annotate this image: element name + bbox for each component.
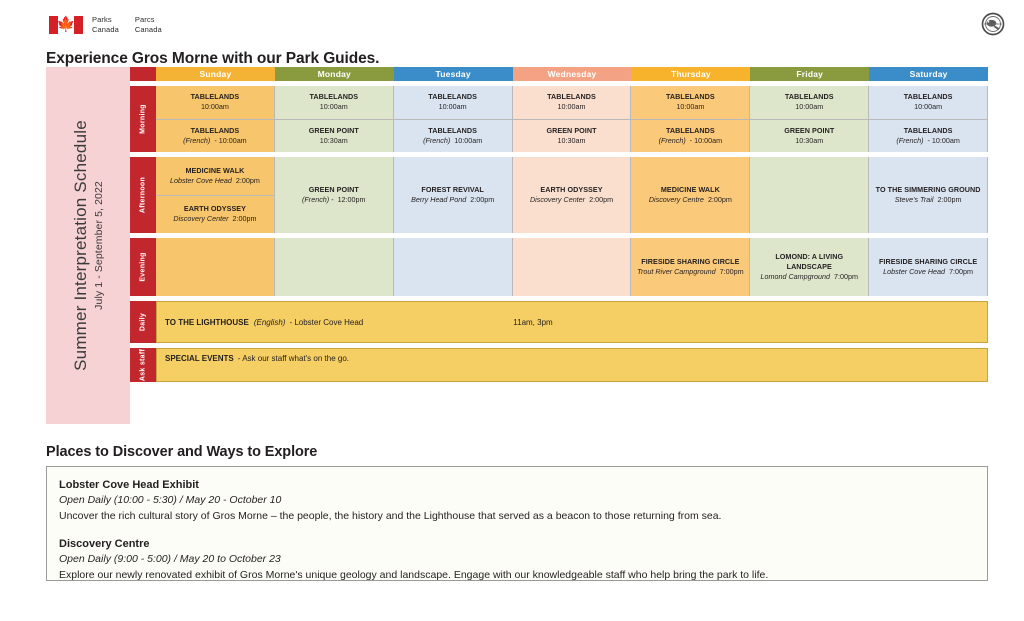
- program-time: 10:30am: [558, 136, 586, 145]
- program-name: TABLELANDS: [309, 92, 358, 102]
- program-name: LOMOND: A LIVING LANDSCAPE: [753, 252, 865, 272]
- program-name: TO THE SIMMERING GROUND: [876, 185, 981, 195]
- daily-program-name: TO THE LIGHTHOUSE: [165, 318, 249, 327]
- program-details: Steve's Trail 2:00pm: [895, 195, 962, 205]
- program-details: Berry Head Pond 2:00pm: [411, 195, 494, 205]
- program-time: 10:00am: [914, 102, 942, 111]
- day-header-wednesday: Wednesday: [513, 67, 632, 81]
- evening-column-thursday: FIRESIDE SHARING CIRCLETrout River Campg…: [631, 238, 750, 296]
- evening-cell-empty: [394, 238, 512, 296]
- row-label-evening: Evening: [130, 238, 156, 296]
- morning-column-wednesday: TABLELANDS10:00amGREEN POINT10:30am: [513, 86, 632, 152]
- program-name: FIRESIDE SHARING CIRCLE: [641, 257, 739, 267]
- program-details: 10:30am: [320, 136, 348, 146]
- page-title: Experience Gros Morne with our Park Guid…: [46, 50, 379, 68]
- afternoon-column-monday: GREEN POINT(French) - 12:00pm: [275, 157, 394, 233]
- row-label-morning: Morning: [130, 86, 156, 152]
- program-details: Lobster Cove Head 7:00pm: [883, 267, 973, 277]
- program-time: 12:00pm: [338, 195, 366, 204]
- evening-column-sunday: [156, 238, 275, 296]
- evening-column-friday: LOMOND: A LIVING LANDSCAPELomond Campgro…: [750, 238, 869, 296]
- program-time: 10:00am: [320, 102, 348, 111]
- program-time: 2:00pm: [708, 195, 732, 204]
- afternoon-cell: MEDICINE WALKDiscovery Centre 2:00pm: [631, 157, 749, 233]
- program-name: MEDICINE WALK: [661, 185, 720, 195]
- daily-program-language: (English): [254, 318, 286, 327]
- evening-cell: FIRESIDE SHARING CIRCLELobster Cove Head…: [869, 238, 987, 296]
- wordmark-english: Parks Canada: [92, 15, 119, 34]
- row-afternoon: Afternoon MEDICINE WALKLobster Cove Head…: [130, 157, 988, 233]
- morning-column-thursday: TABLELANDS10:00amTABLELANDS(French) - 10…: [631, 86, 750, 152]
- program-details: 10:00am: [795, 102, 823, 112]
- program-time: 7:00pm: [949, 267, 973, 276]
- program-name: TABLELANDS: [666, 126, 715, 136]
- afternoon-column-saturday: TO THE SIMMERING GROUNDSteve's Trail 2:0…: [869, 157, 988, 233]
- program-name: FIRESIDE SHARING CIRCLE: [879, 257, 977, 267]
- program-details: 10:00am: [558, 102, 586, 112]
- afternoon-column-tuesday: FOREST REVIVALBerry Head Pond 2:00pm: [394, 157, 513, 233]
- canada-flag-icon: 🍁: [49, 16, 83, 34]
- program-details: 10:00am: [439, 102, 467, 112]
- afternoon-cell: EARTH ODYSSEYDiscovery Center 2:00pm: [156, 195, 274, 234]
- program-time: 10:30am: [795, 136, 823, 145]
- program-details: (French) - 10:00am: [659, 136, 723, 146]
- program-time: 7:00pm: [720, 267, 744, 276]
- program-details: 10:30am: [558, 136, 586, 146]
- evening-cell-empty: [156, 238, 274, 296]
- morning-cell: TABLELANDS10:00am: [275, 86, 393, 119]
- row-morning: Morning TABLELANDS10:00amTABLELANDS(Fren…: [130, 86, 988, 152]
- special-events-text: - Ask our staff what's on the go.: [238, 354, 349, 363]
- evening-column-monday: [275, 238, 394, 296]
- day-header-monday: Monday: [275, 67, 394, 81]
- program-time: 2:00pm: [470, 195, 494, 204]
- program-name: TABLELANDS: [428, 126, 477, 136]
- afternoon-column-wednesday: EARTH ODYSSEYDiscovery Center 2:00pm: [513, 157, 632, 233]
- program-time: 10:00am: [439, 102, 467, 111]
- morning-cell: TABLELANDS(French) 10:00am: [394, 119, 512, 153]
- row-label-daily: Daily: [130, 301, 156, 343]
- program-details: (French) 10:00am: [423, 136, 482, 146]
- program-name: TABLELANDS: [547, 92, 596, 102]
- program-name: EARTH ODYSSEY: [540, 185, 602, 195]
- morning-column-friday: TABLELANDS10:00amGREEN POINT10:30am: [750, 86, 869, 152]
- morning-cell: TABLELANDS10:00am: [156, 86, 274, 119]
- special-events-name: SPECIAL EVENTS: [165, 354, 234, 363]
- daily-program-bar: TO THE LIGHTHOUSE (English) - Lobster Co…: [156, 301, 988, 343]
- place-entry: Discovery CentreOpen Daily (9:00 - 5:00)…: [59, 536, 975, 583]
- program-time: 2:00pm: [589, 195, 613, 204]
- daily-program-location: - Lobster Cove Head: [289, 318, 363, 327]
- place-hours: Open Daily (10:00 - 5:30) / May 20 - Oct…: [59, 493, 975, 508]
- day-header-saturday: Saturday: [869, 67, 988, 81]
- evening-cell: FIRESIDE SHARING CIRCLETrout River Campg…: [631, 238, 749, 296]
- header-row-label-spacer: [130, 67, 156, 81]
- row-ask-staff: Ask staff SPECIAL EVENTS - Ask our staff…: [130, 348, 988, 382]
- place-entry: Lobster Cove Head ExhibitOpen Daily (10:…: [59, 477, 975, 524]
- daily-program-time: 11am, 3pm: [513, 318, 552, 327]
- afternoon-cell-empty: [750, 157, 868, 233]
- program-details: Lomond Campground 7:00pm: [760, 272, 858, 282]
- evening-column-wednesday: [513, 238, 632, 296]
- morning-cell: TABLELANDS(French) - 10:00am: [631, 119, 749, 153]
- sidebar-title: Summer Interpretation Schedule: [71, 120, 91, 371]
- program-details: Discovery Centre 2:00pm: [649, 195, 732, 205]
- morning-cell: TABLELANDS10:00am: [394, 86, 512, 119]
- morning-column-tuesday: TABLELANDS10:00amTABLELANDS(French) 10:0…: [394, 86, 513, 152]
- schedule-poster: 🍁 Parks Canada Parcs Canada Experience G…: [0, 0, 1024, 621]
- morning-cell: GREEN POINT10:30am: [275, 119, 393, 153]
- afternoon-column-friday: [750, 157, 869, 233]
- evening-cell-empty: [513, 238, 631, 296]
- program-name: FOREST REVIVAL: [421, 185, 483, 195]
- program-name: TABLELANDS: [904, 92, 953, 102]
- program-name: EARTH ODYSSEY: [184, 204, 246, 214]
- program-details: 10:00am: [320, 102, 348, 112]
- program-name: GREEN POINT: [309, 126, 359, 136]
- program-time: 10:00am: [454, 136, 482, 145]
- program-name: TABLELANDS: [904, 126, 953, 136]
- morning-cell: TABLELANDS10:00am: [750, 86, 868, 119]
- program-details: Discovery Center 2:00pm: [173, 214, 256, 224]
- special-events-bar: SPECIAL EVENTS - Ask our staff what's on…: [156, 348, 988, 382]
- row-evening: Evening FIRESIDE SHARING CIRCLETrout Riv…: [130, 238, 988, 296]
- place-description: Explore our newly renovated exhibit of G…: [59, 567, 975, 583]
- morning-column-sunday: TABLELANDS10:00amTABLELANDS(French) - 10…: [156, 86, 275, 152]
- program-name: GREEN POINT: [784, 126, 834, 136]
- day-header-tuesday: Tuesday: [394, 67, 513, 81]
- program-name: TABLELANDS: [666, 92, 715, 102]
- program-name: TABLELANDS: [191, 126, 240, 136]
- program-name: GREEN POINT: [546, 126, 596, 136]
- afternoon-cell: GREEN POINT(French) - 12:00pm: [275, 157, 393, 233]
- program-time: 2:00pm: [937, 195, 961, 204]
- schedule-sidebar: Summer Interpretation Schedule July 1 - …: [46, 67, 130, 424]
- place-hours: Open Daily (9:00 - 5:00) / May 20 to Oct…: [59, 552, 975, 567]
- program-details: 10:00am: [914, 102, 942, 112]
- program-details: (French) - 10:00am: [183, 136, 247, 146]
- afternoon-column-sunday: MEDICINE WALKLobster Cove Head 2:00pmEAR…: [156, 157, 275, 233]
- morning-cell: TABLELANDS(French) - 10:00am: [156, 119, 274, 153]
- program-name: TABLELANDS: [191, 92, 240, 102]
- program-time: 2:00pm: [236, 176, 260, 185]
- program-details: (French) - 10:00am: [896, 136, 960, 146]
- place-title: Discovery Centre: [59, 536, 975, 552]
- morning-cell: TABLELANDS10:00am: [513, 86, 631, 119]
- program-time: - 10:00am: [927, 136, 959, 145]
- parks-canada-beaver-emblem-icon: [978, 9, 1008, 39]
- morning-cell: TABLELANDS10:00am: [869, 86, 987, 119]
- program-time: 2:00pm: [233, 214, 257, 223]
- day-header-row: SundayMondayTuesdayWednesdayThursdayFrid…: [130, 67, 988, 81]
- sidebar-dates: July 1 - September 5, 2022: [93, 181, 105, 310]
- morning-cell: TABLELANDS10:00am: [631, 86, 749, 119]
- afternoon-cell: FOREST REVIVALBerry Head Pond 2:00pm: [394, 157, 512, 233]
- evening-column-saturday: FIRESIDE SHARING CIRCLELobster Cove Head…: [869, 238, 988, 296]
- program-details: 10:00am: [201, 102, 229, 112]
- program-time: - 10:00am: [690, 136, 722, 145]
- wordmark-french: Parcs Canada: [135, 15, 162, 34]
- program-time: 7:00pm: [834, 272, 858, 281]
- schedule-grid: SundayMondayTuesdayWednesdayThursdayFrid…: [130, 67, 988, 382]
- afternoon-cell: TO THE SIMMERING GROUNDSteve's Trail 2:0…: [869, 157, 987, 233]
- program-details: Lobster Cove Head 2:00pm: [170, 176, 260, 186]
- program-time: - 10:00am: [214, 136, 246, 145]
- program-time: 10:00am: [558, 102, 586, 111]
- day-header-sunday: Sunday: [156, 67, 275, 81]
- morning-column-monday: TABLELANDS10:00amGREEN POINT10:30am: [275, 86, 394, 152]
- places-panel: Lobster Cove Head ExhibitOpen Daily (10:…: [46, 466, 988, 581]
- evening-cell: LOMOND: A LIVING LANDSCAPELomond Campgro…: [750, 238, 868, 296]
- program-details: 10:30am: [795, 136, 823, 146]
- afternoon-column-thursday: MEDICINE WALKDiscovery Centre 2:00pm: [631, 157, 750, 233]
- program-name: TABLELANDS: [428, 92, 477, 102]
- program-time: 10:30am: [320, 136, 348, 145]
- morning-cell: GREEN POINT10:30am: [513, 119, 631, 153]
- program-name: TABLELANDS: [785, 92, 834, 102]
- morning-cell: GREEN POINT10:30am: [750, 119, 868, 153]
- day-header-thursday: Thursday: [631, 67, 750, 81]
- afternoon-cell: MEDICINE WALKLobster Cove Head 2:00pm: [156, 157, 274, 195]
- program-details: Discovery Center 2:00pm: [530, 195, 613, 205]
- morning-cell: TABLELANDS(French) - 10:00am: [869, 119, 987, 153]
- row-daily: Daily TO THE LIGHTHOUSE (English) - Lobs…: [130, 301, 988, 343]
- program-name: MEDICINE WALK: [185, 166, 244, 176]
- program-time: 10:00am: [676, 102, 704, 111]
- program-time: 10:00am: [201, 102, 229, 111]
- program-details: 10:00am: [676, 102, 704, 112]
- afternoon-cell: EARTH ODYSSEYDiscovery Center 2:00pm: [513, 157, 631, 233]
- places-heading: Places to Discover and Ways to Explore: [46, 444, 317, 460]
- parks-canada-brand: 🍁 Parks Canada Parcs Canada: [49, 15, 162, 34]
- place-title: Lobster Cove Head Exhibit: [59, 477, 975, 493]
- day-header-friday: Friday: [750, 67, 869, 81]
- row-label-ask-staff: Ask staff: [130, 348, 156, 382]
- place-description: Uncover the rich cultural story of Gros …: [59, 508, 975, 524]
- program-name: GREEN POINT: [309, 185, 359, 195]
- row-label-afternoon: Afternoon: [130, 157, 156, 233]
- morning-column-saturday: TABLELANDS10:00amTABLELANDS(French) - 10…: [869, 86, 988, 152]
- wordmark: Parks Canada Parcs Canada: [92, 15, 162, 34]
- program-time: 10:00am: [795, 102, 823, 111]
- evening-column-tuesday: [394, 238, 513, 296]
- program-details: (French) - 12:00pm: [302, 195, 366, 205]
- program-details: Trout River Campground 7:00pm: [637, 267, 744, 277]
- evening-cell-empty: [275, 238, 393, 296]
